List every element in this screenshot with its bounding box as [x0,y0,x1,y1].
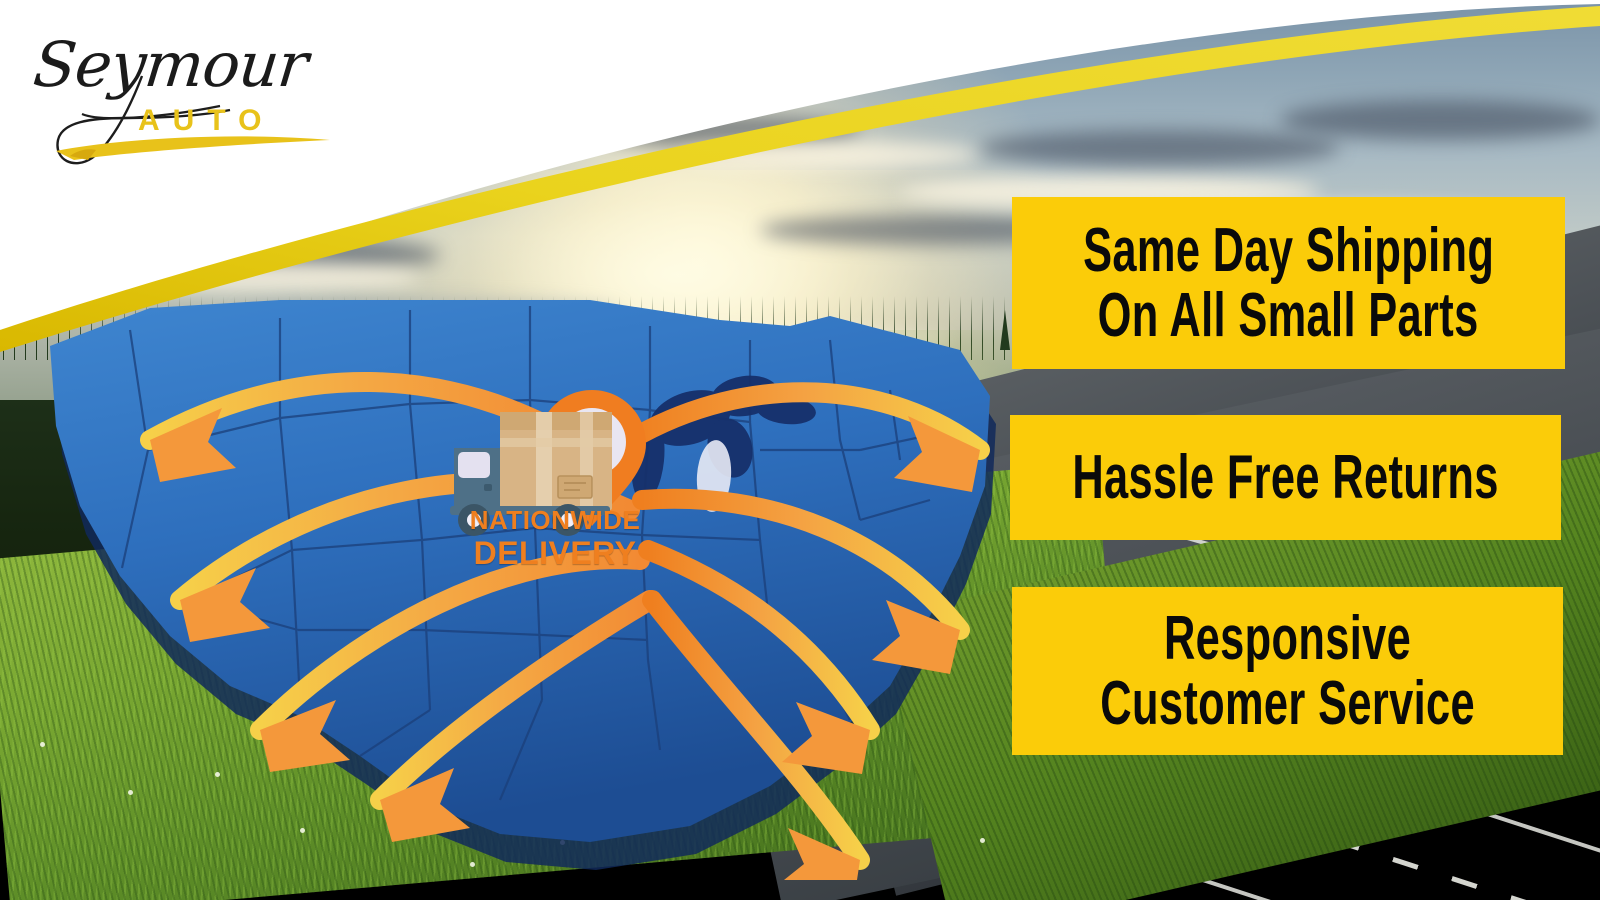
feature-banner-hassle-free-returns[interactable]: Hassle Free Returns [1010,415,1561,540]
feature-banner-same-day-shipping[interactable]: Same Day Shipping On All Small Parts [1012,197,1565,369]
feature-line: Hassle Free Returns [1072,446,1498,509]
feature-line: Same Day Shipping [1083,219,1494,282]
nationwide-delivery-line1: NATIONWIDE [430,505,680,535]
nationwide-delivery-label: NATIONWIDE DELIVERY [430,505,680,571]
logo-brand-script: Seymour [30,28,311,101]
logo-brand-sub: AUTO [138,104,274,138]
feature-line: Customer Service [1100,672,1475,735]
feature-line: Responsive [1164,607,1411,670]
nationwide-delivery-line2: DELIVERY [430,535,680,571]
feature-line: On All Small Parts [1098,284,1479,347]
cardboard-box-icon [500,412,612,510]
feature-banner-responsive-customer-service[interactable]: Responsive Customer Service [1012,587,1563,755]
promo-banner-stage: NATIONWIDE DELIVERY [0,0,1600,900]
